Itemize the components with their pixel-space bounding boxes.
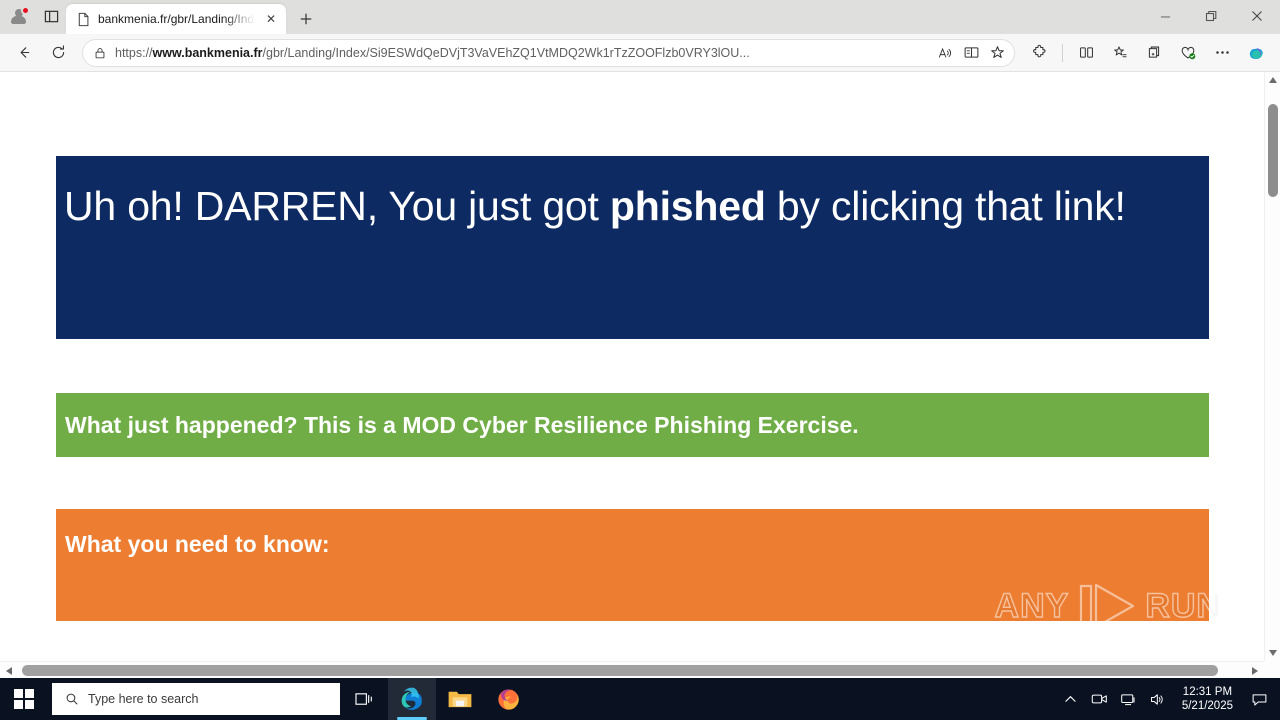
ellipsis-icon (1214, 50, 1231, 55)
chevron-up-icon (1269, 77, 1277, 83)
settings-and-more-button[interactable] (1206, 38, 1238, 68)
tab-close-icon[interactable]: ✕ (262, 10, 280, 28)
what-just-happened-banner: What just happened? This is a MOD Cyber … (56, 393, 1209, 457)
heading-text-bold: phished (610, 183, 766, 229)
horizontal-scrollbar-thumb[interactable] (22, 665, 1218, 676)
browser-essentials-button[interactable] (1172, 38, 1204, 68)
tab-actions-icon[interactable] (36, 2, 66, 30)
file-explorer-icon (447, 687, 473, 711)
vertical-tabs-icon (44, 9, 59, 24)
window-controls (1142, 0, 1280, 32)
what-you-need-to-know-text: What you need to know: (65, 531, 1209, 558)
clock-time: 12:31 PM (1182, 685, 1233, 699)
avatar-body-icon (11, 16, 26, 24)
chevron-up-icon (1065, 695, 1076, 703)
scroll-right-arrow[interactable] (1247, 662, 1263, 678)
star-icon (989, 44, 1006, 61)
what-you-need-to-know-banner: What you need to know: (56, 509, 1209, 621)
puzzle-piece-icon (1031, 44, 1048, 61)
favorites-star-list-icon (1112, 44, 1129, 61)
avatar (4, 2, 34, 30)
taskbar-app-mozilla-firefox[interactable] (484, 678, 532, 720)
vertical-scrollbar-thumb[interactable] (1268, 104, 1278, 197)
toolbar-divider (1062, 44, 1063, 62)
lock-icon (93, 46, 107, 60)
restore-button[interactable] (1188, 0, 1234, 32)
refresh-icon (50, 44, 67, 61)
phishing-alert-heading: Uh oh! DARREN, You just got phished by c… (64, 178, 1199, 234)
extensions-button[interactable] (1023, 38, 1055, 68)
address-bar-url: https://www.bankmenia.fr/gbr/Landing/Ind… (115, 46, 932, 60)
scroll-down-arrow[interactable] (1265, 645, 1280, 661)
microsoft-edge-icon (399, 686, 425, 712)
tab-strip: bankmenia.fr/gbr/Landing/Inde ✕ (0, 0, 1280, 34)
start-button[interactable] (0, 678, 48, 720)
url-scheme: https:// (115, 46, 153, 60)
page-viewport: Uh oh! DARREN, You just got phished by c… (0, 72, 1280, 678)
back-button[interactable] (8, 38, 40, 68)
volume-button[interactable] (1145, 678, 1171, 720)
search-icon (65, 692, 79, 706)
copilot-button[interactable] (1240, 38, 1272, 68)
task-view-button[interactable] (340, 678, 388, 720)
copilot-icon (1246, 43, 1266, 63)
address-bar[interactable]: https://www.bankmenia.fr/gbr/Landing/Ind… (82, 39, 1015, 67)
chevron-left-icon (6, 667, 12, 675)
minimize-button[interactable] (1142, 0, 1188, 32)
action-center-button[interactable] (1244, 678, 1274, 720)
close-button[interactable] (1234, 0, 1280, 32)
phishing-alert-banner: Uh oh! DARREN, You just got phished by c… (56, 156, 1209, 339)
back-arrow-icon (16, 44, 33, 61)
browser-window: bankmenia.fr/gbr/Landing/Inde ✕ (0, 0, 1280, 678)
read-aloud-glyph-icon (937, 45, 953, 61)
profile-notification-badge (21, 6, 30, 15)
meet-now-button[interactable] (1087, 678, 1113, 720)
network-button[interactable] (1116, 678, 1142, 720)
close-icon (1251, 10, 1263, 22)
heading-text-before: Uh oh! DARREN, You just got (64, 183, 610, 229)
taskbar-search-box[interactable]: Type here to search (52, 683, 340, 715)
notification-chat-icon (1251, 692, 1268, 707)
site-information-lock-icon[interactable] (93, 46, 107, 60)
read-aloud-icon[interactable] (932, 41, 958, 65)
collections-button[interactable] (1138, 38, 1170, 68)
browser-tab[interactable]: bankmenia.fr/gbr/Landing/Inde ✕ (66, 4, 286, 34)
split-screen-icon (1078, 44, 1095, 61)
tab-title: bankmenia.fr/gbr/Landing/Inde (98, 12, 255, 26)
windows-logo-icon (14, 689, 34, 709)
new-tab-button[interactable] (291, 5, 321, 33)
heading-text-after: by clicking that link! (766, 183, 1126, 229)
scroll-left-arrow[interactable] (1, 662, 17, 678)
split-screen-button[interactable] (1070, 38, 1102, 68)
collections-add-icon (1146, 44, 1163, 61)
heart-pulse-icon (1179, 44, 1197, 62)
scroll-up-arrow[interactable] (1265, 72, 1280, 88)
immersive-reader-glyph-icon (963, 44, 980, 61)
taskbar-clock[interactable]: 12:31 PM 5/21/2025 (1174, 685, 1241, 713)
restore-icon (1205, 10, 1217, 22)
clock-date: 5/21/2025 (1182, 699, 1233, 713)
chevron-right-icon (1252, 667, 1258, 675)
tab-strip-left-buttons (4, 0, 66, 34)
scrollbar-corner (1264, 661, 1280, 678)
plus-icon (299, 12, 313, 26)
show-hidden-icons-button[interactable] (1058, 678, 1084, 720)
chevron-down-icon (1269, 650, 1277, 656)
network-monitor-icon (1120, 692, 1137, 707)
windows-taskbar: Type here to search (0, 678, 1280, 720)
taskbar-search-placeholder: Type here to search (88, 692, 198, 706)
taskbar-app-file-explorer[interactable] (436, 678, 484, 720)
task-view-icon (355, 691, 374, 708)
web-page-content: Uh oh! DARREN, You just got phished by c… (0, 72, 1264, 661)
firefox-icon (496, 687, 521, 712)
minimize-icon (1160, 11, 1171, 22)
url-host: www.bankmenia.fr (153, 46, 263, 60)
favorites-button[interactable] (1104, 38, 1136, 68)
url-path: /gbr/Landing/Index/Si9ESWdQeDVjT3VaVEhZQ… (263, 46, 750, 60)
refresh-button[interactable] (42, 38, 74, 68)
taskbar-app-microsoft-edge[interactable] (388, 678, 436, 720)
add-favorite-icon[interactable] (984, 41, 1010, 65)
profile-avatar-button[interactable] (4, 2, 34, 30)
horizontal-scrollbar[interactable] (0, 661, 1264, 678)
immersive-reader-icon[interactable] (958, 41, 984, 65)
page-favicon-icon (76, 12, 91, 27)
browser-toolbar: https://www.bankmenia.fr/gbr/Landing/Ind… (0, 34, 1280, 72)
vertical-scrollbar[interactable] (1264, 72, 1280, 661)
volume-icon (1149, 692, 1166, 707)
meet-now-camera-icon (1091, 692, 1108, 706)
what-just-happened-text: What just happened? This is a MOD Cyber … (65, 412, 859, 439)
system-tray: 12:31 PM 5/21/2025 (1058, 678, 1280, 720)
